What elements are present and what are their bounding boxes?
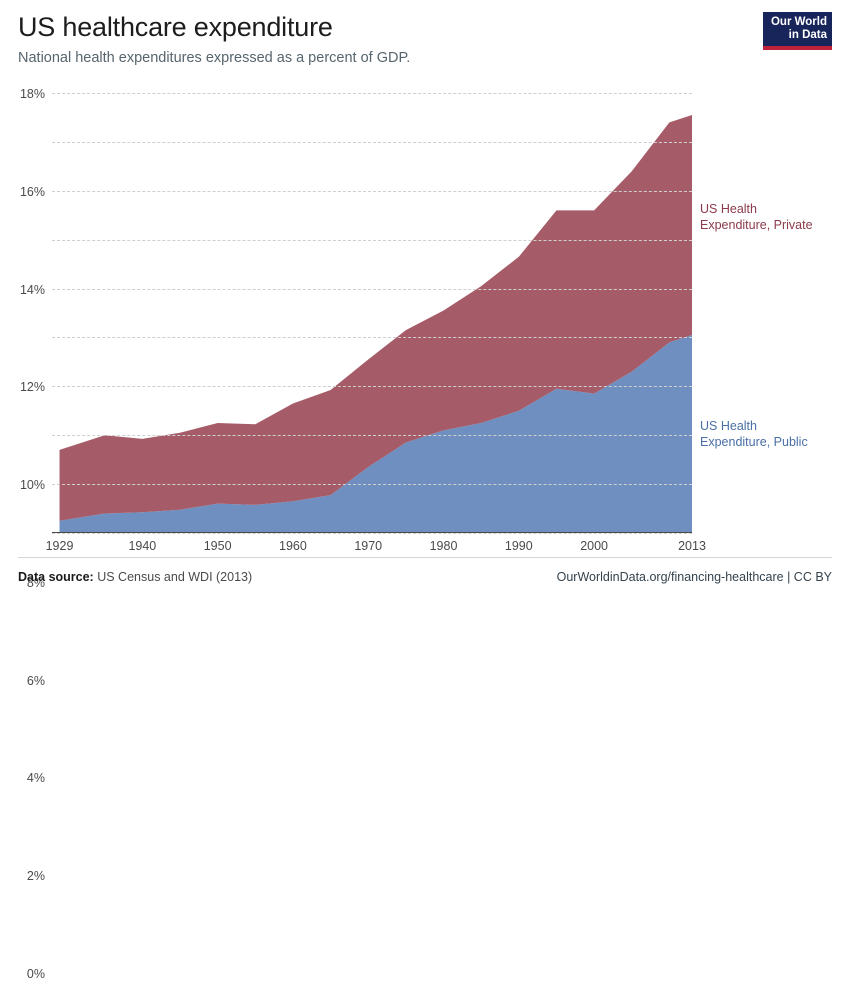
y-axis-tick-label: 14% [20,283,52,297]
x-axis-tick-label: 1980 [430,539,458,553]
data-source: Data source: US Census and WDI (2013) [18,570,252,584]
chart-area: 0%2%4%6%8%10%12%14%16%18%192919401950196… [0,84,850,554]
y-axis-tick-label: 16% [20,185,52,199]
plot-region[interactable]: 0%2%4%6%8%10%12%14%16%18%192919401950196… [52,93,692,533]
series-label-public: US Health Expenditure, Public [700,419,830,450]
x-axis-tick-label: 2013 [678,539,706,553]
data-source-value: US Census and WDI (2013) [97,570,252,584]
series-label-private: US Health Expenditure, Private [700,202,830,233]
x-axis-tick-label: 1990 [505,539,533,553]
x-axis-tick-label: 1960 [279,539,307,553]
page-title: US healthcare expenditure [18,12,832,43]
gridline: 16% [52,142,692,143]
owid-logo[interactable]: Our World in Data [763,12,832,50]
x-axis-tick-label: 2000 [580,539,608,553]
gridline: 4% [52,435,692,436]
x-axis-tick-label: 1940 [128,539,156,553]
gridline: 0% [52,533,692,534]
gridline: 10% [52,289,692,290]
gridline: 6% [52,386,692,387]
chart-header: US healthcare expenditure National healt… [18,12,832,66]
chart-page: US healthcare expenditure National healt… [0,0,850,600]
x-axis-tick-label: 1950 [204,539,232,553]
gridline: 14% [52,191,692,192]
attribution[interactable]: OurWorldinData.org/financing-healthcare … [557,570,832,584]
chart-footer: Data source: US Census and WDI (2013) Ou… [18,570,832,584]
footer-divider [18,557,832,558]
data-source-label: Data source: [18,570,94,584]
stacked-area-series [52,93,692,533]
page-subtitle: National health expenditures expressed a… [18,50,832,66]
gridline: 12% [52,240,692,241]
logo-line-1: Our World [763,16,827,29]
y-axis-tick-label: 6% [27,674,52,688]
gridline: 2% [52,484,692,485]
y-axis-tick-label: 4% [27,771,52,785]
y-axis-tick-label: 18% [20,87,52,101]
y-axis-tick-label: 12% [20,380,52,394]
x-axis-tick-label: 1929 [46,539,74,553]
gridline: 8% [52,337,692,338]
y-axis-tick-label: 10% [20,478,52,492]
gridline: 18% [52,93,692,94]
logo-line-2: in Data [763,29,827,42]
y-axis-tick-label: 0% [27,967,52,981]
x-axis-tick-label: 1970 [354,539,382,553]
y-axis-tick-label: 2% [27,869,52,883]
